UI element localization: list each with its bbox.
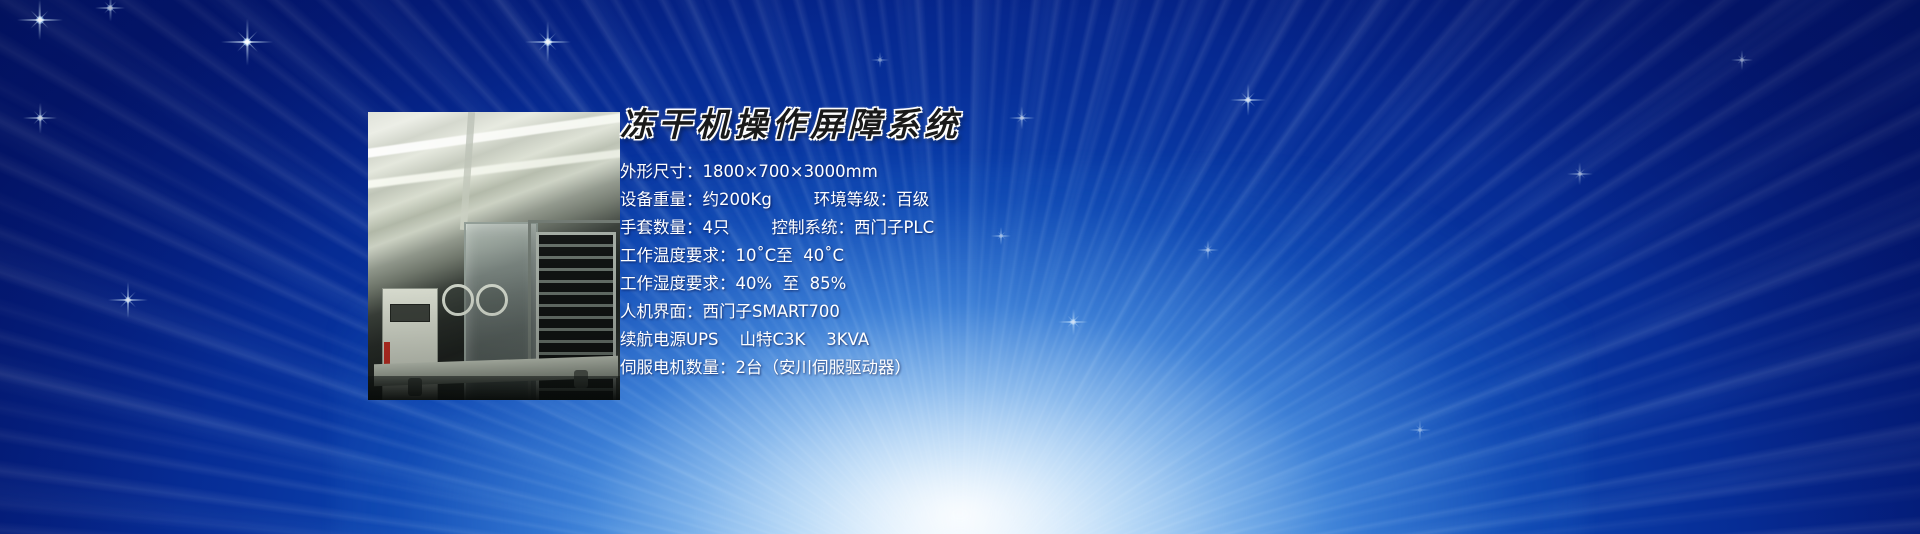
page-title: 冻干机操作屏障系统	[620, 108, 1240, 141]
spec-line-servo: 伺服电机数量：2台（安川伺服驱动器）	[620, 355, 1240, 383]
specification-list: 外形尺寸：1800×700×3000mm设备重量：约200Kg 环境等级：百级手…	[620, 159, 1240, 383]
photo-floor-shadow	[368, 376, 620, 400]
spec-line-temperature: 工作温度要求：10˚C至 40˚C	[620, 243, 1240, 271]
spec-line-humidity: 工作湿度要求：40% 至 85%	[620, 271, 1240, 299]
machine-port-1	[442, 284, 474, 316]
spec-line-ups: 续航电源UPS 山特C3K 3KVA	[620, 327, 1240, 355]
banner-text-block: 冻干机操作屏障系统 外形尺寸：1800×700×3000mm设备重量：约200K…	[620, 108, 1240, 383]
spec-line-weight-grade: 设备重量：约200Kg 环境等级：百级	[620, 187, 1240, 215]
spec-line-gloves-plc: 手套数量：4只 控制系统：西门子PLC	[620, 215, 1240, 243]
machine-control-panel	[390, 304, 430, 322]
spec-line-hmi: 人机界面：西门子SMART700	[620, 299, 1240, 327]
spec-line-dimensions: 外形尺寸：1800×700×3000mm	[620, 159, 1240, 187]
product-photo	[368, 112, 620, 400]
machine-port-2	[476, 284, 508, 316]
banner-stage: 冻干机操作屏障系统 外形尺寸：1800×700×3000mm设备重量：约200K…	[0, 0, 1920, 534]
